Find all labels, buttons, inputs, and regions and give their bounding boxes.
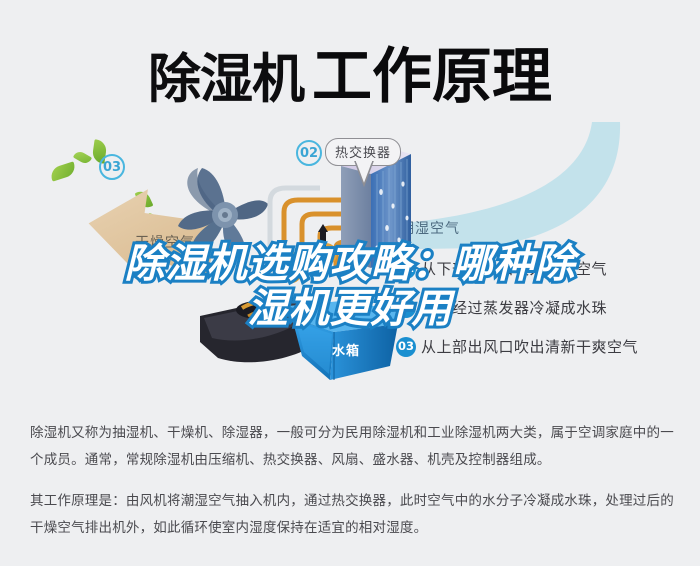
diagram-badge-02: 02 xyxy=(296,140,322,166)
infographic-page: 除湿机工作原理 干燥空气 03 xyxy=(0,0,700,566)
diagram-badge-03: 03 xyxy=(99,154,125,180)
body-paragraph-1: 除湿机又称为抽湿机、干燥机、除湿器，一般可分为民用除湿机和工业除湿机两大类，属于… xyxy=(30,420,676,474)
heat-exchanger-callout: 热交换器 xyxy=(325,138,401,166)
step-list: 01 从下部进风口吸入潮湿空气 02 空气经过蒸发器冷凝成水珠 03 从上部出风… xyxy=(396,258,696,375)
page-title: 除湿机工作原理 xyxy=(0,28,700,115)
step-badge: 02 xyxy=(396,298,416,318)
callout-tail-icon xyxy=(353,161,375,187)
step-text: 从下部进风口吸入潮湿空气 xyxy=(421,258,607,279)
page-title-part2: 工作原理 xyxy=(312,42,552,112)
water-tank-label: 水箱 xyxy=(332,340,360,359)
step-badge: 03 xyxy=(396,337,416,357)
body-paragraph-2: 其工作原理是：由风机将潮湿空气抽入机内，通过热交换器，此时空气中的水分子冷凝成水… xyxy=(30,488,676,542)
leaf-icon xyxy=(49,161,78,181)
list-item: 01 从下部进风口吸入潮湿空气 xyxy=(396,258,696,279)
list-item: 03 从上部出风口吹出清新干爽空气 xyxy=(396,336,696,357)
step-text: 空气经过蒸发器冷凝成水珠 xyxy=(421,297,607,318)
list-item: 02 空气经过蒸发器冷凝成水珠 xyxy=(396,297,696,318)
step-badge: 01 xyxy=(396,259,416,279)
leaf-icon xyxy=(73,149,92,165)
step-text: 从上部出风口吹出清新干爽空气 xyxy=(421,336,638,357)
page-title-part1: 除湿机 xyxy=(148,49,304,110)
body-copy: 除湿机又称为抽湿机、干燥机、除湿器，一般可分为民用除湿机和工业除湿机两大类，属于… xyxy=(30,420,676,542)
